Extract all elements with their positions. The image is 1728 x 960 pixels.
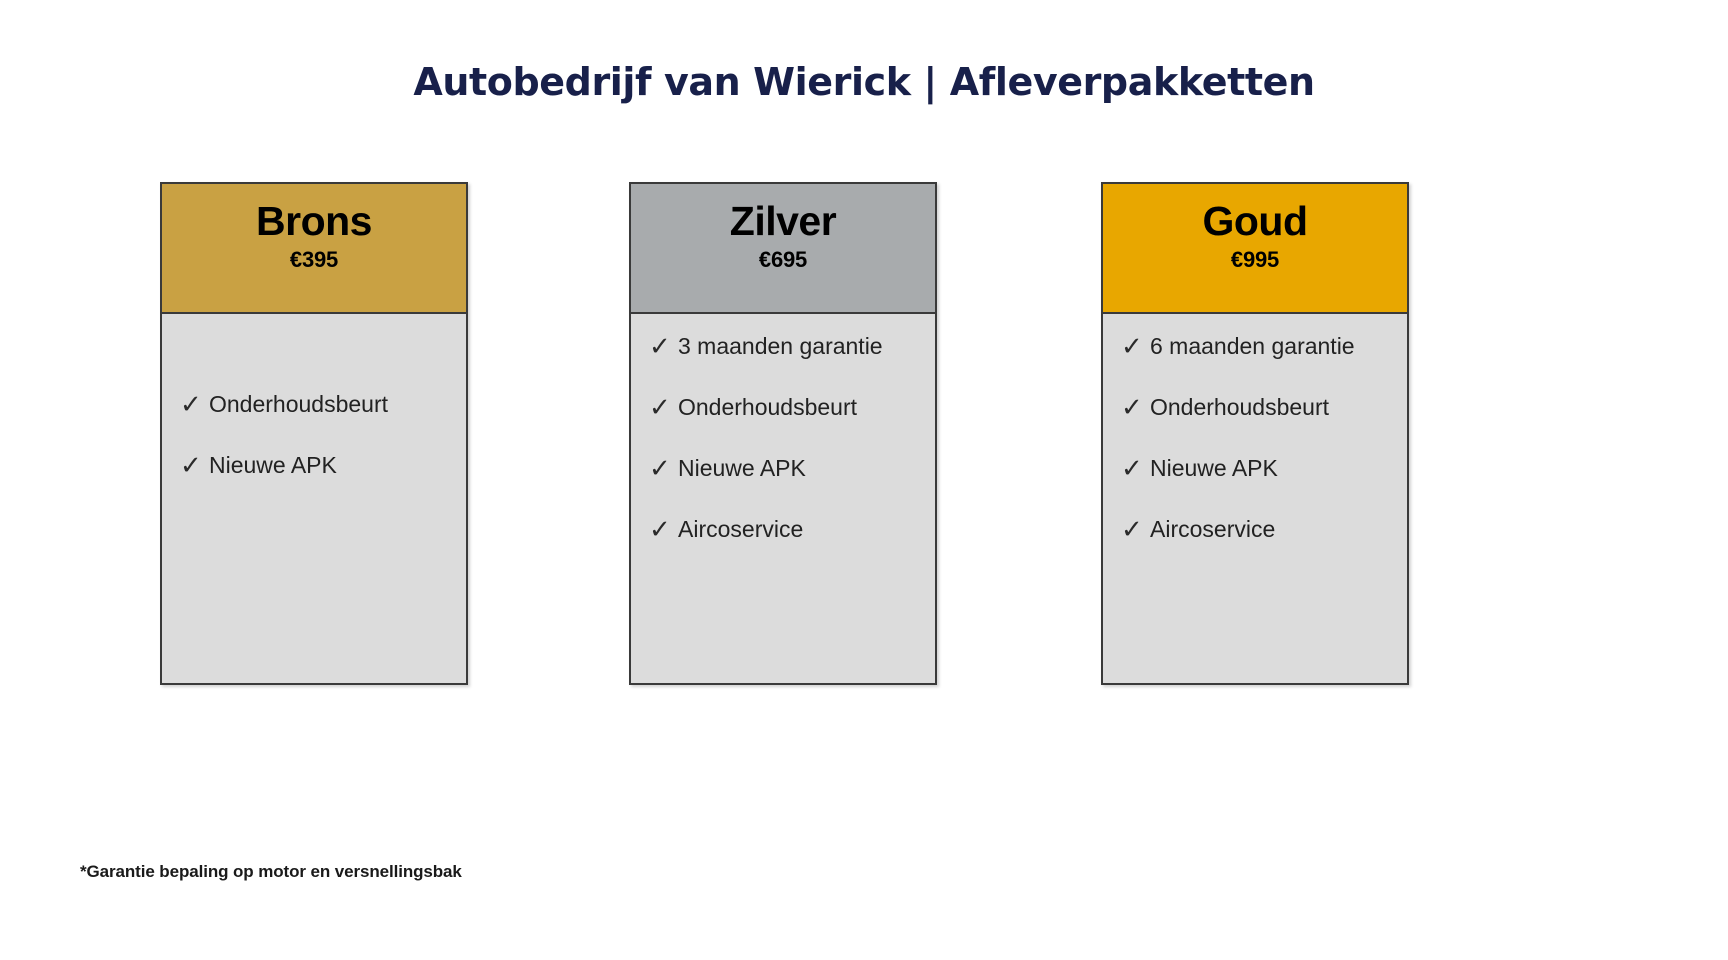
card-body-zilver: ✓ 3 maanden garantie ✓ Onderhoudsbeurt ✓… — [631, 314, 935, 683]
pricing-card-goud[interactable]: Goud €995 ✓ 6 maanden garantie ✓ Onderho… — [1101, 182, 1409, 685]
check-icon: ✓ — [1121, 334, 1147, 360]
feature-list: ✓ Onderhoudsbeurt ✓ Nieuwe APK — [180, 392, 458, 479]
feature-label: 6 maanden garantie — [1150, 334, 1399, 359]
check-icon: ✓ — [649, 456, 675, 482]
feature-label: Nieuwe APK — [1150, 456, 1399, 481]
feature-label: Nieuwe APK — [678, 456, 927, 481]
tier-name: Brons — [256, 198, 372, 245]
feature-label: Onderhoudsbeurt — [209, 392, 458, 417]
list-item: ✓ 6 maanden garantie — [1121, 334, 1399, 360]
feature-label: Onderhoudsbeurt — [1150, 395, 1399, 420]
list-item: ✓ Onderhoudsbeurt — [649, 395, 927, 421]
feature-label: Aircoservice — [1150, 517, 1399, 542]
footnote: *Garantie bepaling op motor en versnelli… — [80, 862, 462, 882]
check-icon: ✓ — [649, 334, 675, 360]
list-item: ✓ Nieuwe APK — [649, 456, 927, 482]
pricing-page: Autobedrijf van Wierick | Afleverpakkett… — [0, 0, 1728, 960]
card-header-goud: Goud €995 — [1103, 184, 1407, 314]
pricing-card-zilver[interactable]: Zilver €695 ✓ 3 maanden garantie ✓ Onder… — [629, 182, 937, 685]
feature-label: Nieuwe APK — [209, 453, 458, 478]
check-icon: ✓ — [1121, 517, 1147, 543]
card-header-zilver: Zilver €695 — [631, 184, 935, 314]
list-item: ✓ Nieuwe APK — [1121, 456, 1399, 482]
check-icon: ✓ — [1121, 395, 1147, 421]
list-item: ✓ 3 maanden garantie — [649, 334, 927, 360]
list-item: ✓ Aircoservice — [1121, 517, 1399, 543]
pricing-card-brons[interactable]: Brons €395 ✓ Onderhoudsbeurt ✓ Nieuwe AP… — [160, 182, 468, 685]
card-body-brons: ✓ Onderhoudsbeurt ✓ Nieuwe APK — [162, 314, 466, 683]
list-item: ✓ Onderhoudsbeurt — [180, 392, 458, 418]
list-item: ✓ Nieuwe APK — [180, 453, 458, 479]
check-icon: ✓ — [649, 395, 675, 421]
feature-list: ✓ 3 maanden garantie ✓ Onderhoudsbeurt ✓… — [649, 334, 927, 543]
pricing-card-group: Brons €395 ✓ Onderhoudsbeurt ✓ Nieuwe AP… — [160, 182, 1410, 687]
tier-price: €995 — [1231, 247, 1279, 273]
tier-price: €695 — [759, 247, 807, 273]
page-title: Autobedrijf van Wierick | Afleverpakkett… — [0, 60, 1728, 104]
feature-list: ✓ 6 maanden garantie ✓ Onderhoudsbeurt ✓… — [1121, 334, 1399, 543]
list-item: ✓ Aircoservice — [649, 517, 927, 543]
feature-label: 3 maanden garantie — [678, 334, 927, 359]
check-icon: ✓ — [1121, 456, 1147, 482]
check-icon: ✓ — [649, 517, 675, 543]
card-body-goud: ✓ 6 maanden garantie ✓ Onderhoudsbeurt ✓… — [1103, 314, 1407, 683]
check-icon: ✓ — [180, 453, 206, 479]
tier-name: Zilver — [730, 198, 836, 245]
feature-label: Onderhoudsbeurt — [678, 395, 927, 420]
list-item: ✓ Onderhoudsbeurt — [1121, 395, 1399, 421]
tier-name: Goud — [1202, 198, 1307, 245]
card-header-brons: Brons €395 — [162, 184, 466, 314]
tier-price: €395 — [290, 247, 338, 273]
check-icon: ✓ — [180, 392, 206, 418]
feature-label: Aircoservice — [678, 517, 927, 542]
